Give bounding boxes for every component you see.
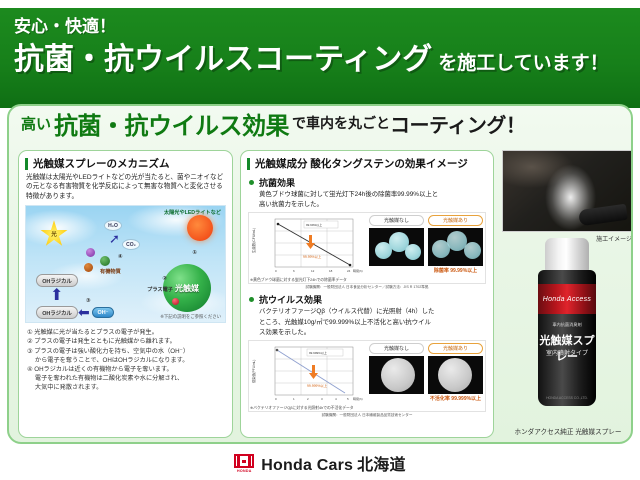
mechanism-card-title-row: 光触媒スプレーのメカニズム [19,151,232,173]
svg-text:生菌数(CFU/mL): 生菌数(CFU/mL) [251,228,256,253]
effect-card: 光触媒成分 酸化タングステンの効果イメージ 抗菌効果 黄色ブドウ球菌に対して蛍光… [240,150,494,438]
page-header: 安心・快適！ 抗菌・抗ウイルスコーティングを施工しています！ [0,8,640,108]
dealer-name: Honda Cars北海道 [261,451,405,475]
antibacterial-result: 除菌率 99.99%以上 [434,267,477,274]
antiviral-heading-row: 抗ウイルス効果 [241,290,493,306]
effect-title: 光触媒成分 酸化タングステンの効果イメージ [255,156,468,171]
dish-photo-with-catalyst [428,228,483,266]
oh-minus-pill: OH⁻ [92,307,114,318]
svg-text:5: 5 [347,397,349,401]
header-title-row: 抗菌・抗ウイルスコーティングを施工しています！ [14,41,640,83]
arrow-up-icon-2: ⬆ [50,288,63,304]
honda-h-crossbar [242,460,246,463]
dealer-region: 北海道 [357,457,406,474]
honda-logo-word: HONDA [237,469,252,473]
co2-molecule-icon: CO₂ [122,239,140,250]
spray-nozzle-icon [578,204,628,227]
antiviral-fine-print: 試験機関：一般財団法人 日本繊維製品品質技術センター [241,413,493,418]
dish-label-no-catalyst: 光触媒なし [369,215,424,226]
antibacterial-text-line2: 高い抗菌力を示した。 [241,199,493,209]
dish-photo-with-catalyst [428,356,483,394]
page-footer: HONDA Honda Cars北海道 [0,446,640,480]
bottle-fine-print: HONDA ACCESS CO.,LTD. [538,396,596,400]
dish-label-no-catalyst: 光触媒なし [369,343,424,354]
note-item: ④ OHラジカルは近くの有機物から電子を奪います。 [27,365,224,374]
step-2-marker: ② [162,276,167,282]
svg-text:99.99%以上: 99.99%以上 [306,222,322,227]
bottle-brand: Honda Access [543,296,591,303]
subtitle-band: 高い 抗菌・抗ウイルス効果 で車内を丸ごと コーティング！ [9,106,631,140]
effect-card-title-row: 光触媒成分 酸化タングステンの効果イメージ [241,151,493,173]
dish-photo-no-catalyst [369,228,424,266]
svg-text:時間(h): 時間(h) [353,268,363,273]
note-item: ① 光触媒に光が当たるとプラスの電子が発生。 [27,328,224,337]
sun-icon [187,215,213,241]
svg-text:3: 3 [321,397,323,401]
antibacterial-heading-row: 抗菌効果 [241,173,493,189]
spray-bottle: Honda Access 車内抗菌消臭剤 光触媒スプレー 室内噴射タイプ HON… [536,238,598,408]
mechanism-description: 光触媒は太陽光やLEDライトなどの光が当たると、菌やニオイなどの元となる有害物質… [19,173,232,201]
arrow-left-icon: ⬅ [78,305,90,319]
oh-radical-pill-1: OHラジカル [36,274,78,287]
antibacterial-text-line1: 黄色ブドウ球菌に対して蛍光灯下24h後の除菌率99.99%以上と [241,189,493,199]
advertisement-page: 安心・快適！ 抗菌・抗ウイルスコーティングを施工しています！ 高い 抗菌・抗ウイ… [0,0,640,480]
header-subtitle: 安心・快適！ [14,16,640,38]
header-title-tail: を施工しています！ [438,53,608,74]
dish-label-with-catalyst: 光触媒あり [428,343,483,354]
dish-column-control: 光触媒なし [369,215,424,283]
svg-text:99.999%以上: 99.999%以上 [309,350,327,355]
antibacterial-heading: 抗菌効果 [259,176,295,189]
svg-text:1: 1 [293,397,295,401]
title-bar-icon [25,158,28,170]
svg-text:24: 24 [347,269,351,273]
note-item: 電子を奪われた有機物は二酸化炭素や水に分解され、 [27,374,224,383]
mechanism-title: 光触媒スプレーのメカニズム [33,156,170,171]
antiviral-text-line2: ところ、光触媒10g/㎡で99.999%以上不活化と高い抗ウイル [241,317,493,327]
organic-molecule-icon-1 [86,248,95,257]
plus-electron-label: プラス電子 [147,286,173,293]
bullet-dot-icon [249,180,254,185]
band-mid: で車内を丸ごと [292,113,390,133]
note-item: 大気中に発散されます。 [27,383,224,392]
dish-photo-no-catalyst [369,356,424,394]
organic-molecule-icon-2 [100,256,110,266]
arrow-up-icon-1: ➚ [109,232,120,245]
note-item: ② プラスの電子は発生とともに光触媒から離れます。 [27,337,224,346]
mechanism-card: 光触媒スプレーのメカニズム 光触媒は太陽光やLEDライトなどの光が当たると、菌や… [18,150,233,438]
antiviral-text-line3: ス効果を示した。 [241,327,493,337]
antiviral-chart-caption: ※バクテリオファージQβに対する光照射4hでの不活化データ [250,405,354,411]
water-molecule-icon: H₂O [104,220,122,231]
svg-text:12: 12 [311,269,315,273]
diagram-footnote: ※下記の説明をご参照ください [160,314,221,320]
product-bottle-container: Honda Access 車内抗菌消臭剤 光触媒スプレー 室内噴射タイプ HON… [502,234,633,438]
svg-text:4: 4 [335,397,337,401]
antibacterial-line-chart: 生菌数(CFU/mL) 99.99%以上 99.99%以上 [249,213,367,279]
bottle-body: Honda Access 車内抗菌消臭剤 光触媒スプレー 室内噴射タイプ HON… [538,270,596,406]
svg-text:99.999%以上: 99.999%以上 [307,383,328,388]
light-source-label: 太陽光やLEDライトなど [164,209,221,216]
note-item: ③ プラスの電子は強い酸化力を持ち、空気中の水（OH⁻） [27,347,224,356]
bottle-caption: ホンダアクセス純正 光触媒スプレー [502,426,633,436]
antiviral-chart: 感染価(PFU/mL) 99.999%以上 99.999%以上 0 [249,341,367,411]
oh-radical-pill-2: OHラジカル [36,306,78,319]
content-frame: 高い 抗菌・抗ウイルス効果 で車内を丸ごと コーティング！ 光触媒スプレーのメカ… [7,104,633,444]
organic-label: 有機物質 [100,268,121,275]
dish-column-treated: 光触媒あり 不活化率 99.999%以上 [428,343,483,411]
antiviral-line-chart: 感染価(PFU/mL) 99.999%以上 99.999%以上 0 [249,341,367,407]
band-lead: 高い [21,113,51,134]
spray-photo-container: 施工イメージ [502,150,633,232]
header-title: 抗菌・抗ウイルスコーティング [14,43,432,76]
antiviral-evidence: 感染価(PFU/mL) 99.999%以上 99.999%以上 0 [248,340,486,412]
light-burst-icon: 光 [40,220,68,248]
antiviral-text-line1: バクテリオファージQβ（ウイルス代替）に光照射（4h）した [241,306,493,316]
svg-text:感染価(PFU/mL): 感染価(PFU/mL) [251,360,256,383]
bottle-cap [545,238,589,272]
antiviral-heading: 抗ウイルス効果 [259,293,322,306]
svg-text:2: 2 [307,397,309,401]
dish-label-with-catalyst: 光触媒あり [428,215,483,226]
antibacterial-evidence: 生菌数(CFU/mL) 99.99%以上 99.99%以上 [248,212,486,284]
dish-column-control: 光触媒なし [369,343,424,411]
honda-h-icon [234,454,254,468]
dealer-brand: Honda Cars [261,457,353,474]
antibacterial-chart-caption: ※黄色ブドウ球菌に対する蛍光灯下24hでの除菌率データ [250,277,347,283]
title-bar-icon [247,158,250,170]
step-4-marker: ④ [118,254,123,260]
mechanism-notes: ① 光触媒に光が当たるとプラスの電子が発生。 ② プラスの電子は発生とともに光触… [19,323,232,392]
spray-photo [502,150,633,232]
organic-molecule-icon-3 [84,263,93,272]
bottle-type: 室内噴射タイプ [538,348,596,357]
antibacterial-chart: 生菌数(CFU/mL) 99.99%以上 99.99%以上 [249,213,367,283]
svg-text:0: 0 [275,269,277,273]
mechanism-diagram: 太陽光やLEDライトなど 光 光触媒 H₂O CO₂ 有機物質 ➚ ④ ① ② … [25,205,226,323]
bottle-subtitle: 車内抗菌消臭剤 [538,322,596,328]
bottle-brand-band: Honda Access [538,284,596,314]
antiviral-dishes: 光触媒なし 光触媒あり 不活化率 99.999%以上 [367,341,485,411]
bullet-dot-icon [249,297,254,302]
svg-text:18: 18 [329,269,333,273]
antiviral-result: 不活化率 99.999%以上 [430,395,481,402]
honda-logo: HONDA [234,454,254,473]
svg-text:6: 6 [293,269,295,273]
step-1-marker: ① [192,250,197,256]
svg-text:時間(h): 時間(h) [353,396,363,401]
svg-text:0: 0 [275,397,277,401]
antibacterial-dishes: 光触媒なし 光触媒あり [367,213,485,283]
band-highlight: 抗菌・抗ウイルス効果 [54,106,289,141]
dish-column-treated: 光触媒あり 除菌率 99.99%以上 [428,215,483,283]
svg-text:99.99%以上: 99.99%以上 [303,254,322,259]
note-item: から電子を奪うことで、OHはOHラジカルになります。 [27,356,224,365]
band-tail: コーティング！ [390,109,525,138]
